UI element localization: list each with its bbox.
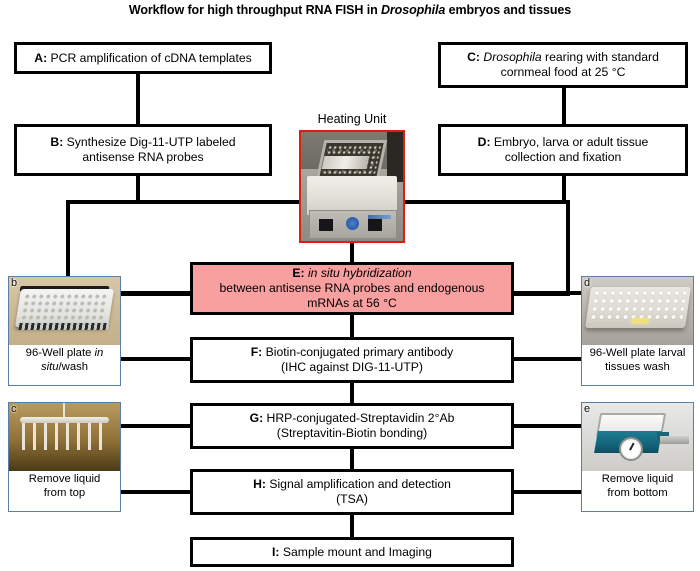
hu-shadow	[387, 132, 403, 182]
connector-f-to-g	[350, 383, 354, 403]
flow-box-b-key: B:	[50, 135, 63, 149]
hu-control-panel	[309, 210, 397, 238]
flow-box-h-line1: Signal amplification and detection	[266, 477, 451, 491]
flow-box-i[interactable]: I: Sample mount and Imaging	[190, 537, 514, 567]
connector-panele-to-h	[512, 490, 584, 494]
flow-box-a[interactable]: A: PCR amplification of cDNA templates	[14, 42, 272, 74]
connector-e-to-f	[350, 315, 354, 337]
heating-unit-photo	[299, 130, 405, 243]
connector-panelc-to-h	[120, 490, 192, 494]
plate-skirt	[18, 323, 109, 330]
flow-box-a-key: A:	[34, 51, 47, 65]
flow-box-g[interactable]: G: HRP-conjugated-Streptavidin 2°Ab (Str…	[190, 403, 514, 449]
flow-box-f-text: F: Biotin-conjugated primary antibody (I…	[251, 345, 454, 375]
flow-box-h-text: H: Signal amplification and detection (T…	[253, 477, 451, 507]
panel-d[interactable]: d 96-Well plate larval tissues wash	[581, 276, 694, 386]
flow-box-g-text: G: HRP-conjugated-Streptavidin 2°Ab (Str…	[250, 411, 455, 441]
hu-foil	[322, 156, 370, 169]
panel-e-caption-line2: from bottom	[607, 487, 667, 499]
panel-e[interactable]: e Remove liquid from bottom	[581, 402, 694, 512]
flow-box-e-line1-italic: in situ hybridization	[305, 266, 412, 280]
connector-paneld-to-e	[512, 291, 584, 295]
flow-box-d-text: D: Embryo, larva or adult tissue collect…	[478, 135, 649, 165]
flow-box-a-line1: PCR amplification of cDNA templates	[47, 51, 252, 65]
flow-box-a-text: A: PCR amplification of cDNA templates	[34, 51, 251, 66]
flow-box-b-line1: Synthesize Dig-11-UTP labeled	[63, 135, 235, 149]
panel-b-caption-pre: 96-Well plate	[26, 347, 95, 359]
flow-box-f-line1: Biotin-conjugated primary antibody	[262, 345, 453, 359]
flow-box-e-text: E: in situ hybridization between antisen…	[220, 266, 485, 311]
panel-e-letter: e	[584, 403, 590, 415]
flow-box-b-text: B: Synthesize Dig-11-UTP labeled antisen…	[50, 135, 235, 165]
aspirator-tines	[22, 423, 106, 450]
panel-c[interactable]: c Remove liquid from top	[8, 402, 121, 512]
panel-b[interactable]: b 96-Well plate in situ/wash	[8, 276, 121, 386]
plate-wells	[20, 293, 109, 323]
flow-box-e-line2: between antisense RNA probes and endogen…	[220, 281, 485, 295]
96-well-plate-larval-photo: d	[582, 277, 693, 345]
aspirator-comb-photo: c	[9, 403, 120, 471]
page-title: Workflow for high throughput RNA FISH in…	[0, 2, 700, 18]
flow-box-c-key: C:	[467, 50, 480, 64]
vacuum-manifold-photo: e	[582, 403, 693, 471]
flow-box-d[interactable]: D: Embryo, larva or adult tissue collect…	[438, 124, 688, 176]
flow-box-g-line2: (Streptavitin-Biotin bonding)	[277, 426, 427, 440]
flow-box-e-line3: mRNAs at 56 °C	[307, 296, 397, 310]
flow-box-e[interactable]: E: in situ hybridization between antisen…	[190, 262, 514, 315]
flow-box-c-species: Drosophila	[480, 50, 542, 64]
flow-box-h-key: H:	[253, 477, 266, 491]
connector-g-to-h	[350, 449, 354, 469]
flow-box-g-line1: HRP-conjugated-Streptavidin 2°Ab	[263, 411, 454, 425]
panel-b-caption: 96-Well plate in situ/wash	[9, 345, 120, 375]
connector-panelb-to-e	[120, 291, 192, 295]
96-well-plate-photo: b	[9, 277, 120, 345]
flow-box-i-key: I:	[272, 545, 279, 559]
heating-unit-artwork	[301, 132, 403, 241]
panel-b-caption-post: /wash	[59, 361, 89, 373]
panel-d-caption-line2: tissues wash	[605, 361, 670, 373]
flow-box-c-line1: rearing with standard	[542, 50, 659, 64]
flow-box-f[interactable]: F: Biotin-conjugated primary antibody (I…	[190, 337, 514, 383]
flow-box-i-text: I: Sample mount and Imaging	[272, 545, 432, 560]
connector-h-to-i	[350, 515, 354, 537]
flow-box-i-line1: Sample mount and Imaging	[280, 545, 432, 559]
connector-paneld-to-f	[512, 357, 584, 361]
flow-box-c-text: C: Drosophila rearing with standard corn…	[467, 50, 659, 80]
aspirator-stem	[63, 403, 65, 418]
flow-box-d-key: D:	[478, 135, 491, 149]
connector-panelc-to-g	[120, 424, 192, 428]
flow-box-b-line2: antisense RNA probes	[82, 150, 203, 164]
panel-d-caption-line1: 96-Well plate larval	[590, 347, 686, 359]
hu-knob	[346, 217, 359, 230]
hu-case	[307, 176, 397, 215]
manifold-valve-port	[660, 436, 689, 444]
panel-c-caption: Remove liquid from top	[9, 471, 120, 501]
panel-e-caption-line1: Remove liquid	[602, 473, 674, 485]
flow-box-e-key: E:	[292, 266, 304, 280]
flow-box-f-key: F:	[251, 345, 263, 359]
panel-c-letter: c	[11, 403, 17, 415]
flow-box-h-line2: (TSA)	[336, 492, 368, 506]
panel-c-caption-line2: from top	[44, 487, 85, 499]
heating-unit-label: Heating Unit	[290, 112, 414, 127]
panel-c-caption-line1: Remove liquid	[29, 473, 101, 485]
panel-b-letter: b	[11, 277, 17, 289]
connector-a-to-b	[136, 74, 140, 124]
panel-d-caption: 96-Well plate larval tissues wash	[582, 345, 693, 375]
workflow-diagram: Workflow for high throughput RNA FISH in…	[0, 0, 700, 571]
flow-box-d-line2: collection and fixation	[505, 150, 622, 164]
flow-box-f-line2: (IHC against DIG-11-UTP)	[281, 360, 423, 374]
title-prefix: Workflow for high throughput RNA FISH in	[129, 3, 381, 17]
connector-c-to-d	[562, 88, 566, 124]
hu-display-left	[319, 219, 334, 231]
connector-panele-to-g	[512, 424, 584, 428]
flow-box-b[interactable]: B: Synthesize Dig-11-UTP labeled antisen…	[14, 124, 272, 176]
pressure-gauge-icon	[619, 437, 643, 461]
flow-box-h[interactable]: H: Signal amplification and detection (T…	[190, 469, 514, 515]
larval-plate-highlight	[630, 318, 649, 324]
connector-bus-right-drop	[566, 200, 570, 296]
connector-panelb-to-f	[120, 357, 192, 361]
title-italic-species: Drosophila	[381, 3, 445, 17]
flow-box-c[interactable]: C: Drosophila rearing with standard corn…	[438, 42, 688, 88]
connector-heater-to-e	[350, 240, 354, 262]
flow-box-c-line2: cornmeal food at 25 °C	[501, 65, 626, 79]
hu-display-right	[368, 219, 383, 231]
panel-e-caption: Remove liquid from bottom	[582, 471, 693, 501]
flow-box-g-key: G:	[250, 411, 264, 425]
panel-d-letter: d	[584, 277, 590, 289]
flow-box-d-line1: Embryo, larva or adult tissue	[491, 135, 649, 149]
title-suffix: embryos and tissues	[445, 3, 571, 17]
